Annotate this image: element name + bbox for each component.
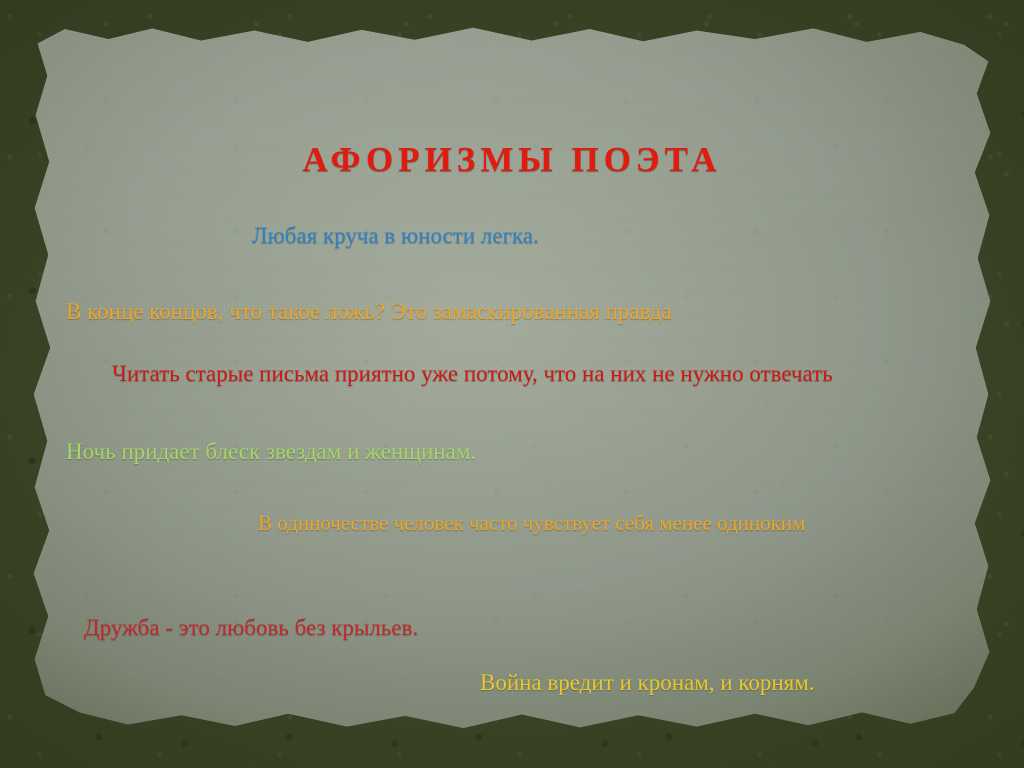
slide-content: АФОРИЗМЫ ПОЭТА Любая круча в юности легк… (0, 0, 1024, 768)
aphorism-5: В одиночестве человек часто чувствует се… (258, 510, 805, 537)
aphorism-4: Ночь придает блеск звездам и женщинам. (66, 437, 476, 466)
aphorism-6: Дружба - это любовь без крыльев. (84, 613, 418, 642)
presentation-slide: АФОРИЗМЫ ПОЭТА Любая круча в юности легк… (0, 0, 1024, 768)
aphorism-2: В конце концов, что такое ложь? Это зама… (66, 297, 672, 326)
aphorism-3: Читать старые письма приятно уже потому,… (112, 359, 902, 388)
aphorism-7: Война вредит и кронам, и корням. (480, 668, 815, 697)
aphorism-1: Любая круча в юности легка. (252, 221, 539, 250)
slide-title: АФОРИЗМЫ ПОЭТА (0, 141, 1024, 180)
